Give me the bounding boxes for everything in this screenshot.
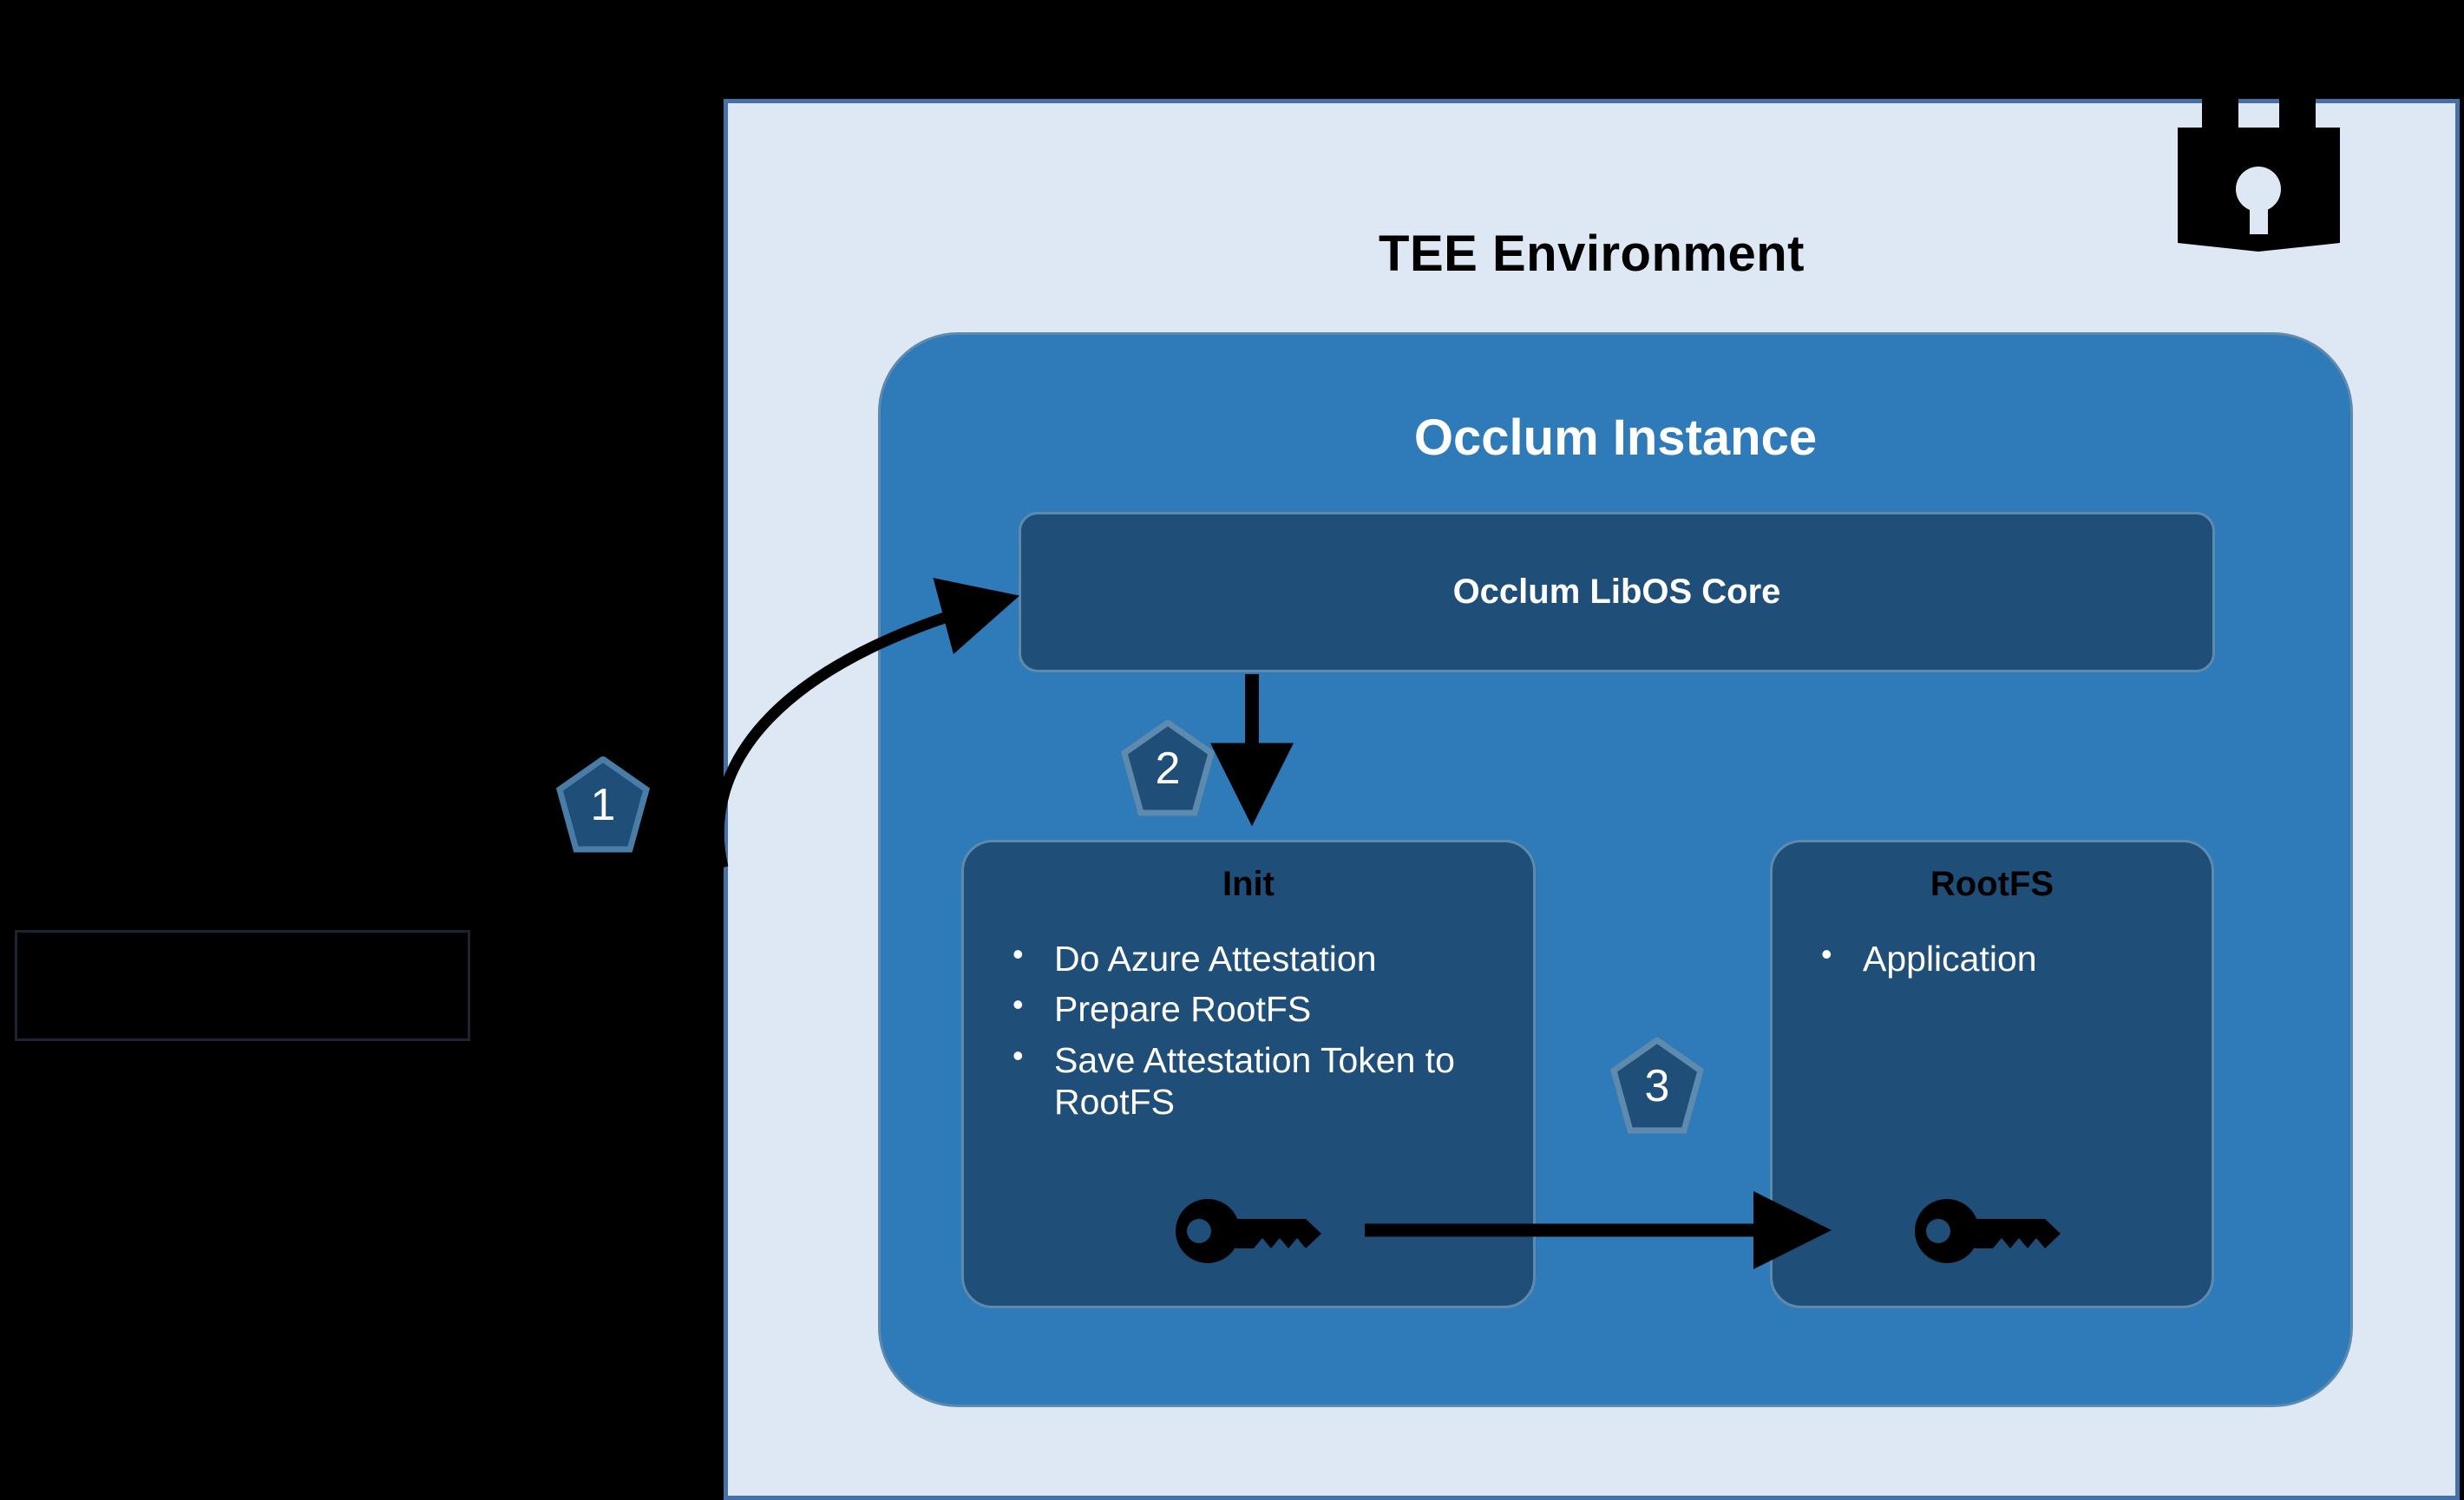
key-icon bbox=[1915, 1199, 2069, 1263]
init-bullet-list: Do Azure Attestation Prepare RootFS Save… bbox=[1004, 938, 1516, 1132]
list-item: Prepare RootFS bbox=[1004, 988, 1516, 1030]
init-title: Init bbox=[964, 865, 1533, 904]
step-badge-3: 3 bbox=[1607, 1038, 1707, 1135]
list-item: Save Attestation Token to RootFS bbox=[1004, 1039, 1516, 1123]
step-badge-1: 1 bbox=[553, 757, 653, 854]
list-item: Do Azure Attestation bbox=[1004, 938, 1516, 979]
step-badge-3-number: 3 bbox=[1607, 1038, 1707, 1135]
step-badge-2: 2 bbox=[1117, 720, 1218, 817]
diagram-canvas: TEE Environment Occlum Instance Occlum L… bbox=[0, 0, 2464, 1500]
rootfs-bullet-list: Application bbox=[1812, 938, 2194, 988]
key-icon bbox=[1176, 1199, 1330, 1263]
occlum-libos-core-label: Occlum LibOS Core bbox=[1453, 573, 1781, 612]
step-badge-1-number: 1 bbox=[553, 757, 653, 854]
padlock-icon bbox=[2166, 43, 2352, 252]
occlum-libos-core-box: Occlum LibOS Core bbox=[1019, 512, 2215, 672]
list-item: Application bbox=[1812, 938, 2194, 979]
empty-rectangle bbox=[15, 930, 470, 1041]
occlum-instance-title: Occlum Instance bbox=[881, 409, 2350, 467]
step-badge-2-number: 2 bbox=[1117, 720, 1218, 817]
rootfs-title: RootFS bbox=[1773, 865, 2212, 904]
